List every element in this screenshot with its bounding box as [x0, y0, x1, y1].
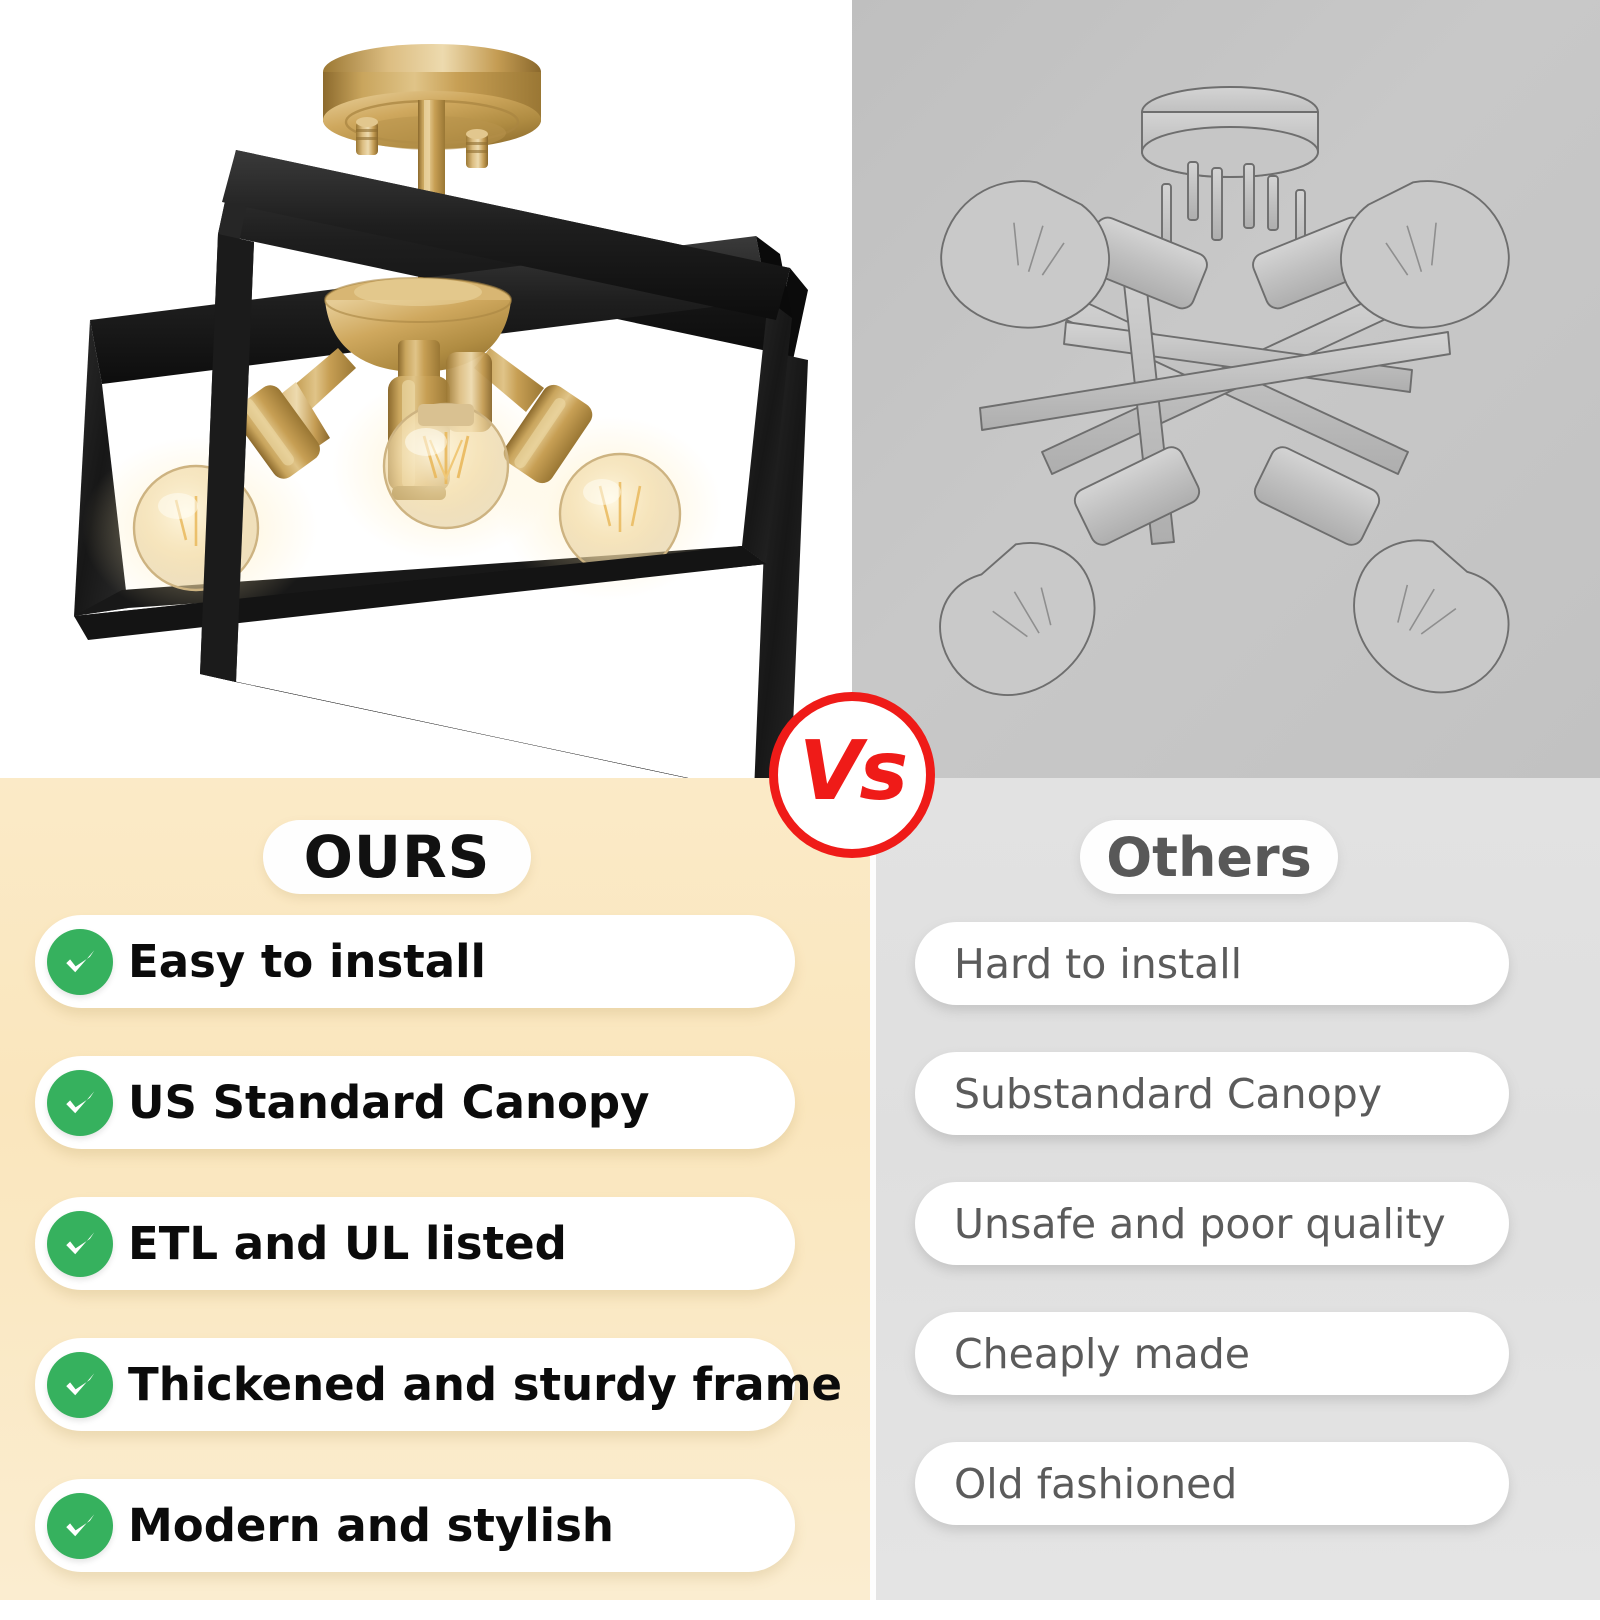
check-circle-icon	[47, 929, 113, 995]
check-circle-icon	[47, 1211, 113, 1277]
list-item[interactable]: Easy to install	[0, 915, 870, 1008]
ours-item-label: Modern and stylish	[128, 1479, 614, 1572]
ours-title: OURS	[304, 823, 491, 891]
check-circle-icon	[47, 1493, 113, 1559]
others-item-label: Cheaply made	[954, 1312, 1250, 1395]
check-circle-icon	[47, 1352, 113, 1418]
check-circle-icon	[47, 1070, 113, 1136]
list-item[interactable]: ETL and UL listed	[0, 1197, 870, 1290]
others-title: Others	[1106, 826, 1312, 889]
others-title-pill: Others	[1080, 820, 1338, 894]
list-item[interactable]: Thickened and sturdy frame	[0, 1338, 870, 1431]
ours-title-pill: OURS	[263, 820, 531, 894]
list-item[interactable]: Modern and stylish	[0, 1479, 870, 1572]
others-item-label: Substandard Canopy	[954, 1052, 1382, 1135]
list-item[interactable]: Unsafe and poor quality	[876, 1182, 1600, 1265]
others-item-label: Old fashioned	[954, 1442, 1237, 1525]
ours-item-label: Thickened and sturdy frame	[128, 1338, 842, 1431]
ours-product-photo	[0, 0, 852, 778]
vs-badge: Vs	[769, 692, 935, 858]
ours-feature-list: Easy to install US Standard Canopy ETL a…	[0, 915, 870, 1620]
others-item-label: Hard to install	[954, 922, 1242, 1005]
list-item[interactable]: Cheaply made	[876, 1312, 1600, 1395]
list-item[interactable]: US Standard Canopy	[0, 1056, 870, 1149]
frame-back-bottom-rail	[200, 674, 790, 778]
list-item[interactable]: Substandard Canopy	[876, 1052, 1600, 1135]
others-product-photo	[852, 0, 1600, 778]
others-feature-list: Hard to install Substandard Canopy Unsaf…	[876, 922, 1600, 1572]
others-item-label: Unsafe and poor quality	[954, 1182, 1446, 1265]
vs-label: Vs	[799, 731, 905, 813]
list-item[interactable]: Old fashioned	[876, 1442, 1600, 1525]
bulb-center	[384, 404, 508, 528]
ours-item-label: US Standard Canopy	[128, 1056, 649, 1149]
list-item[interactable]: Hard to install	[876, 922, 1600, 1005]
ours-item-label: Easy to install	[128, 915, 486, 1008]
ours-item-label: ETL and UL listed	[128, 1197, 567, 1290]
comparison-infographic: Vs OURS Others Easy to install US Standa…	[0, 0, 1600, 1600]
